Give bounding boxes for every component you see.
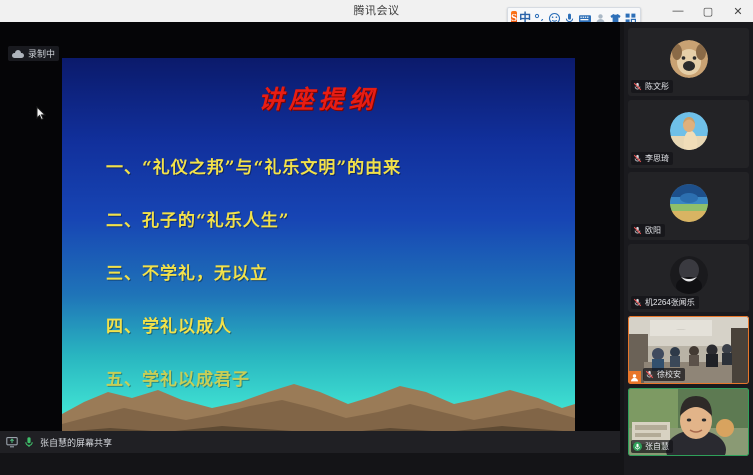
svg-text:........: ........	[677, 326, 686, 331]
avatar	[670, 184, 708, 222]
microphone-active-icon	[633, 442, 642, 451]
avatar	[670, 40, 708, 78]
participant-name: 机2264张闻乐	[645, 297, 695, 308]
tencent-meeting-window: 腾讯会议 S 中	[0, 0, 753, 475]
participant-name-chip: 陈文彤	[631, 80, 673, 93]
participant-video-rail[interactable]: 陈文彤	[624, 22, 753, 475]
microphone-muted-icon	[633, 226, 642, 235]
participant-tile[interactable]: 李思琦	[628, 100, 749, 168]
participant-tile[interactable]: 机2264张闻乐	[628, 244, 749, 312]
participant-name: 欧阳	[645, 225, 661, 236]
participant-tile[interactable]: ........	[628, 316, 749, 384]
participant-tile[interactable]: 欧阳	[628, 172, 749, 240]
participant-name-chip: 欧阳	[631, 224, 665, 237]
participant-name: 陈文彤	[645, 81, 669, 92]
microphone-muted-icon	[633, 82, 642, 91]
avatar	[670, 256, 708, 294]
microphone-active-icon[interactable]	[23, 436, 35, 448]
slide-title: 讲座提纲	[62, 80, 575, 116]
recording-label: 录制中	[28, 47, 55, 60]
screen-share-icon	[6, 436, 18, 448]
participant-name-chip: 机2264张闻乐	[631, 296, 699, 309]
maximize-button[interactable]: ▢	[693, 0, 723, 22]
participant-name: 徐校安	[657, 369, 681, 380]
mouse-cursor-icon	[36, 106, 47, 121]
avatar	[670, 112, 708, 150]
slide-outline-item-2: 二、孔子的“礼乐人生”	[106, 206, 290, 231]
slide-outline-item-3: 三、不学礼，无以立	[106, 259, 268, 284]
minimize-button[interactable]: —	[663, 0, 693, 22]
screen-share-label: 张自慧的屏幕共享	[40, 436, 112, 449]
slide-outline-item-1: 一、“礼仪之邦”与“礼乐文明”的由来	[106, 153, 401, 178]
close-button[interactable]: ✕	[723, 0, 753, 22]
window-controls: — ▢ ✕	[663, 0, 753, 22]
microphone-muted-icon	[645, 370, 654, 379]
shared-screen-area[interactable]: 录制中 讲座提纲 一、“礼仪之邦”与“礼乐文明”的由来 二、孔子的“礼乐人生” …	[0, 22, 620, 453]
participant-name-chip: 徐校安	[643, 368, 685, 381]
participant-name-chip: 张自慧	[631, 440, 673, 453]
share-status-bar: 张自慧的屏幕共享	[0, 431, 620, 453]
slide-outline-item-4: 四、学礼以成人	[106, 312, 232, 337]
meeting-content: 录制中 讲座提纲 一、“礼仪之邦”与“礼乐文明”的由来 二、孔子的“礼乐人生” …	[0, 22, 753, 475]
participant-tile[interactable]: 陈文彤	[628, 28, 749, 96]
window-titlebar: 腾讯会议 S 中	[0, 0, 753, 22]
microphone-muted-icon	[633, 298, 642, 307]
participant-tile[interactable]: 张自慧	[628, 388, 749, 456]
participant-name-chip: 李思琦	[631, 152, 673, 165]
mountain-graphic	[62, 362, 575, 440]
cloud-recording-icon	[12, 49, 24, 58]
microphone-muted-icon	[633, 154, 642, 163]
host-badge-icon	[628, 371, 641, 384]
participant-name: 张自慧	[645, 441, 669, 452]
recording-indicator: 录制中	[8, 46, 59, 61]
presentation-slide: 讲座提纲 一、“礼仪之邦”与“礼乐文明”的由来 二、孔子的“礼乐人生” 三、不学…	[62, 58, 575, 440]
participant-name: 李思琦	[645, 153, 669, 164]
